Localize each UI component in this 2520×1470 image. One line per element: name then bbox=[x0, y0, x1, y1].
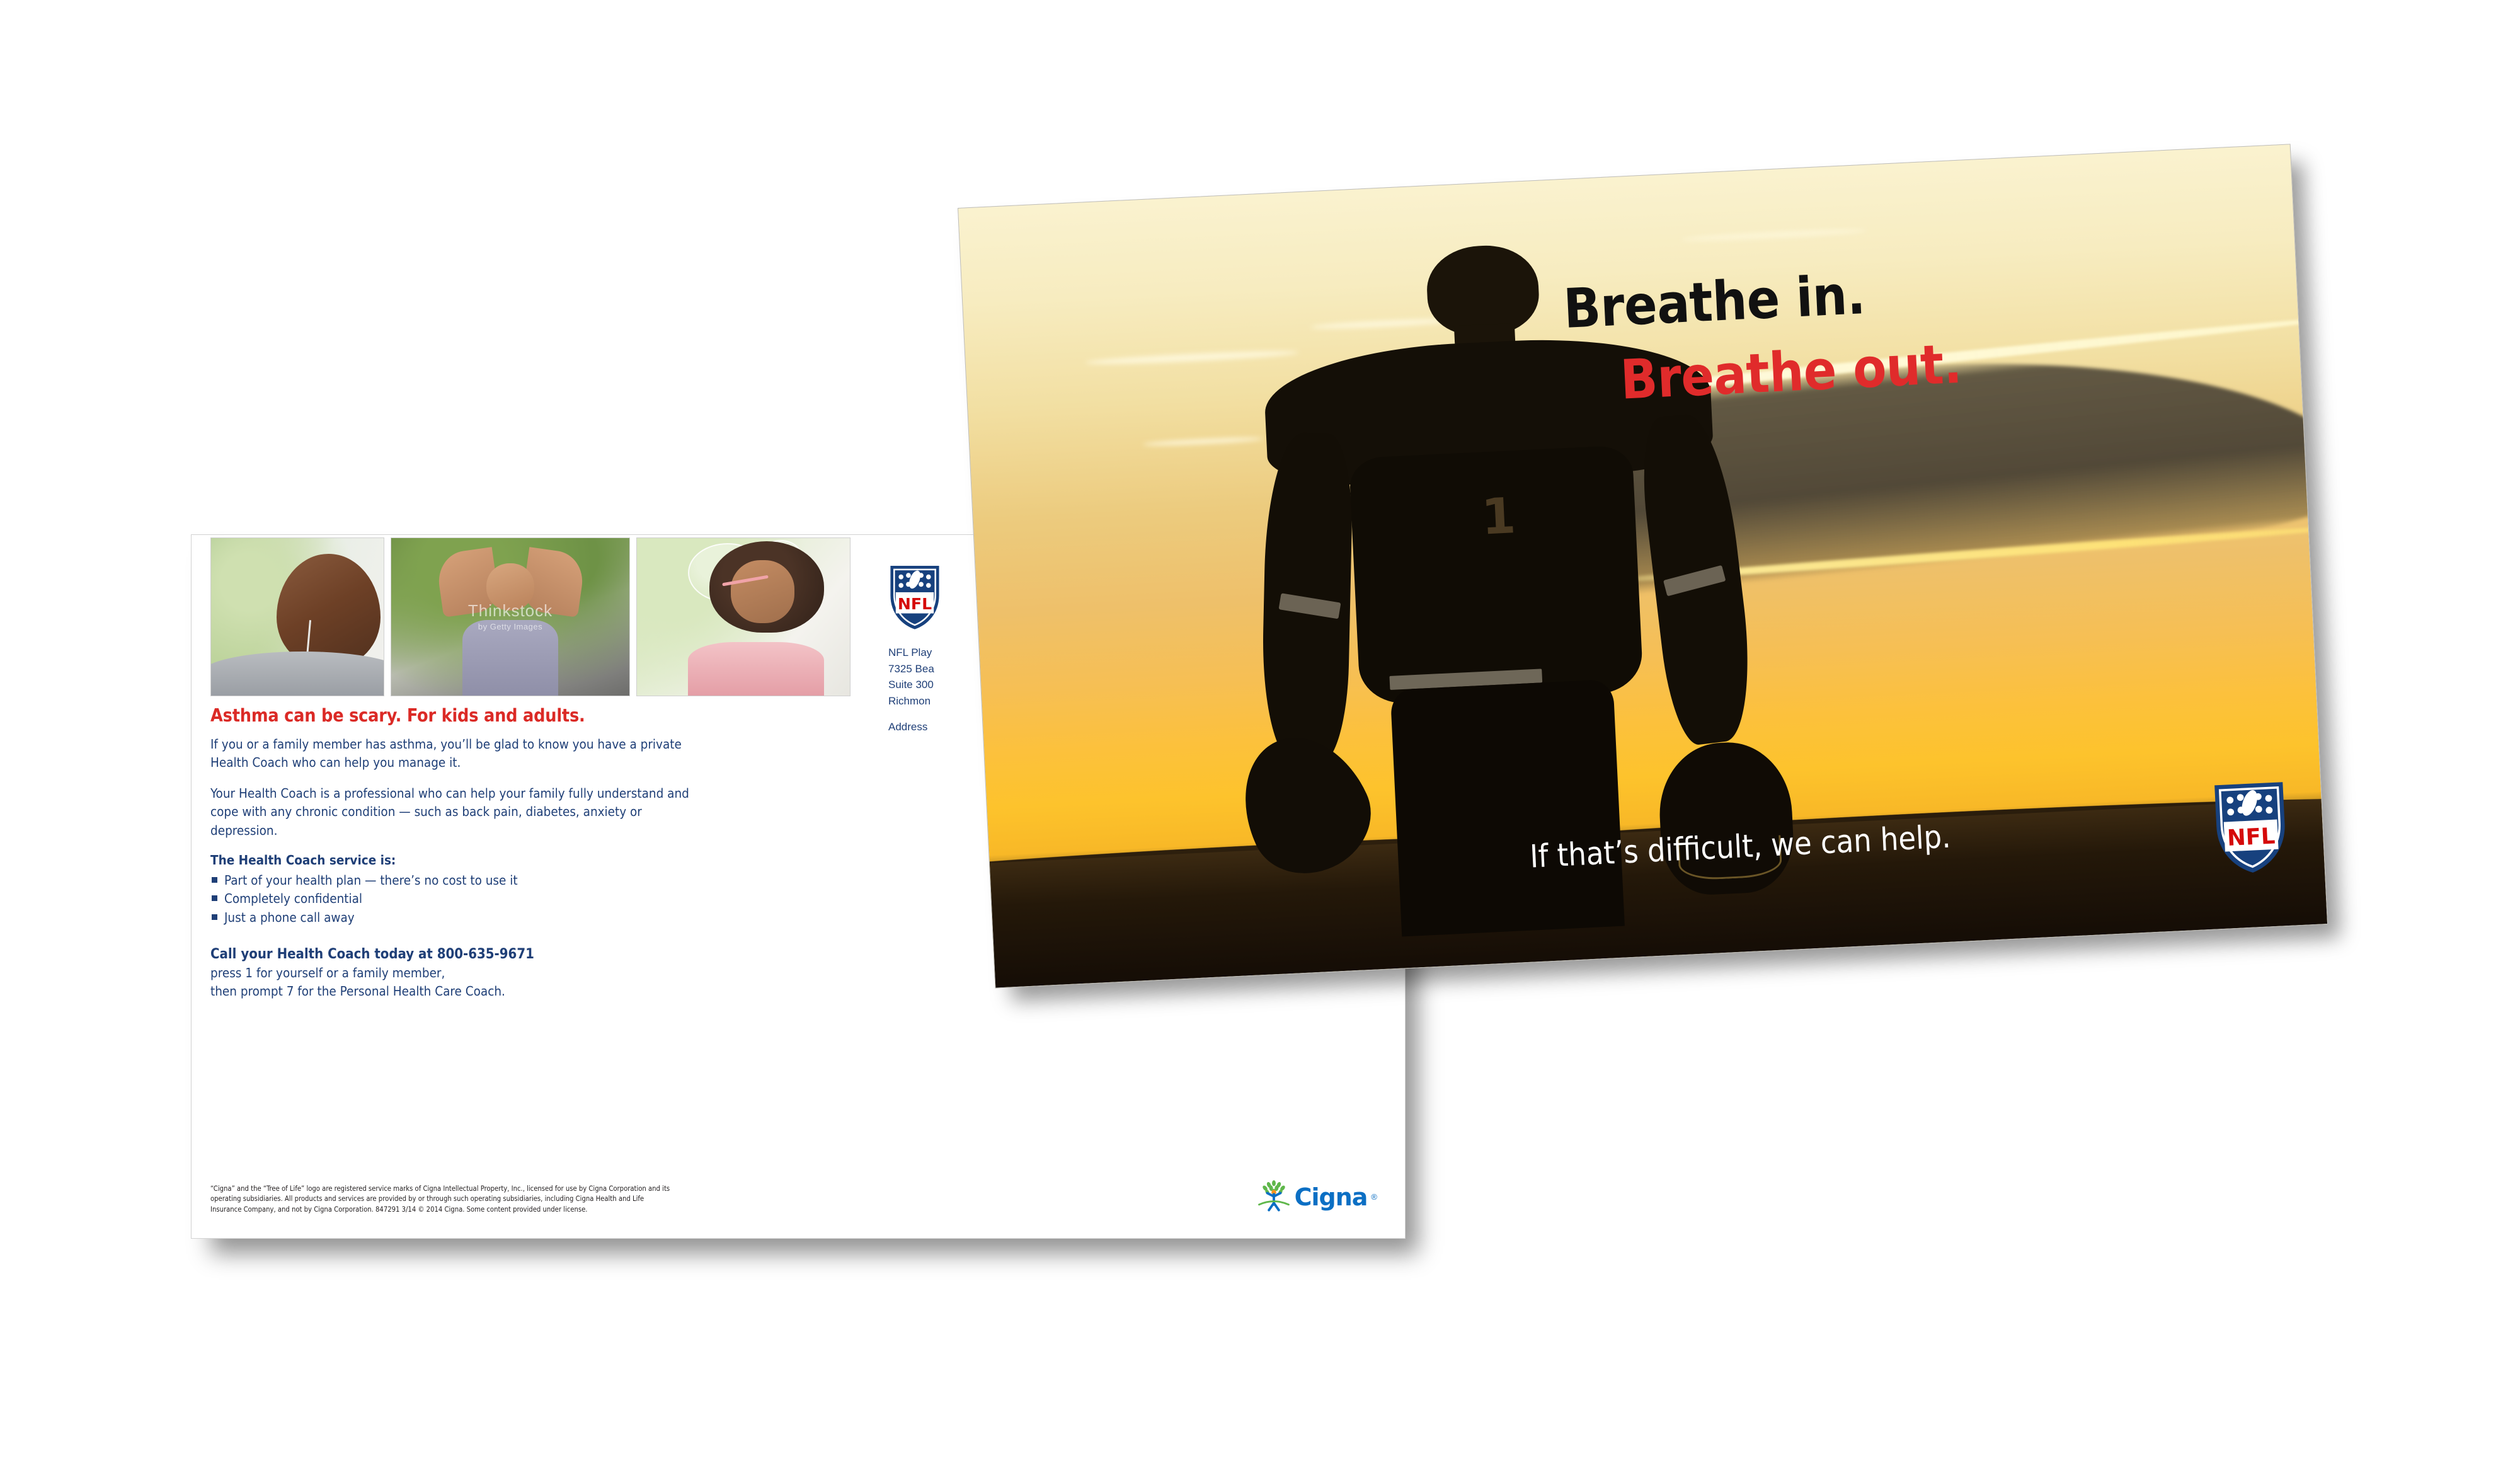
postcard-front: 1 Breathe in. Breathe out. If that’s dif… bbox=[958, 144, 2328, 988]
person-torso bbox=[462, 620, 558, 696]
bullet-text: Just a phone call away bbox=[224, 910, 355, 925]
back-paragraph-1: If you or a family member has asthma, yo… bbox=[210, 735, 689, 772]
back-copy-block: Asthma can be scary. For kids and adults… bbox=[210, 706, 689, 1001]
cigna-wordmark: Cigna bbox=[1295, 1185, 1368, 1209]
bullets-heading: The Health Coach service is: bbox=[210, 853, 689, 868]
bullet-text: Part of your health plan — there’s no co… bbox=[224, 873, 518, 888]
player-jersey-number: 1 bbox=[1442, 490, 1555, 544]
person-face bbox=[731, 560, 794, 623]
back-headline: Asthma can be scary. For kids and adults… bbox=[210, 706, 689, 725]
nfl-shield-icon: NFL bbox=[2211, 778, 2290, 877]
player-jersey bbox=[1349, 445, 1644, 705]
front-headline-line-1: Breathe in. bbox=[1562, 268, 1866, 337]
person-shoulders bbox=[210, 652, 384, 696]
back-paragraph-2: Your Health Coach is a professional who … bbox=[210, 784, 689, 841]
list-item: Just a phone call away bbox=[210, 909, 689, 927]
postcard-scene: Thinkstock by Getty Images bbox=[0, 0, 2520, 1470]
cta-heading: Call your Health Coach today at 800-635-… bbox=[210, 946, 689, 962]
svg-text:NFL: NFL bbox=[898, 595, 932, 613]
bullet-square-icon bbox=[212, 895, 217, 901]
bullet-square-icon bbox=[212, 877, 217, 883]
svg-text:NFL: NFL bbox=[2226, 823, 2276, 851]
cta-line-1: press 1 for yourself or a family member, bbox=[210, 964, 689, 982]
registered-mark: ® bbox=[1371, 1192, 1377, 1202]
person-head bbox=[486, 563, 534, 611]
bullet-text: Completely confidential bbox=[224, 891, 362, 906]
nfl-shield-icon: NFL bbox=[888, 563, 941, 631]
photo-woman-runner: Thinkstock by Getty Images bbox=[391, 537, 630, 696]
player-legs bbox=[1390, 679, 1625, 937]
list-item: Completely confidential bbox=[210, 890, 689, 909]
bullet-square-icon bbox=[212, 914, 217, 920]
person-shoulders bbox=[688, 642, 824, 696]
photo-man-with-earbuds bbox=[210, 537, 384, 696]
front-headline-line-2: Breathe out. bbox=[1619, 337, 1962, 408]
photo-girl-blowing-bubbles bbox=[636, 537, 850, 696]
list-item: Part of your health plan — there’s no co… bbox=[210, 871, 689, 890]
cta-line-2: then prompt 7 for the Personal Health Ca… bbox=[210, 982, 689, 1001]
player-head bbox=[1425, 243, 1540, 338]
cigna-tree-of-life-icon bbox=[1257, 1178, 1291, 1215]
legal-disclaimer: “Cigna” and the “Tree of Life” logo are … bbox=[210, 1184, 670, 1215]
cigna-logo: Cigna ® bbox=[1257, 1178, 1377, 1215]
service-bullet-list: Part of your health plan — there’s no co… bbox=[210, 871, 689, 928]
